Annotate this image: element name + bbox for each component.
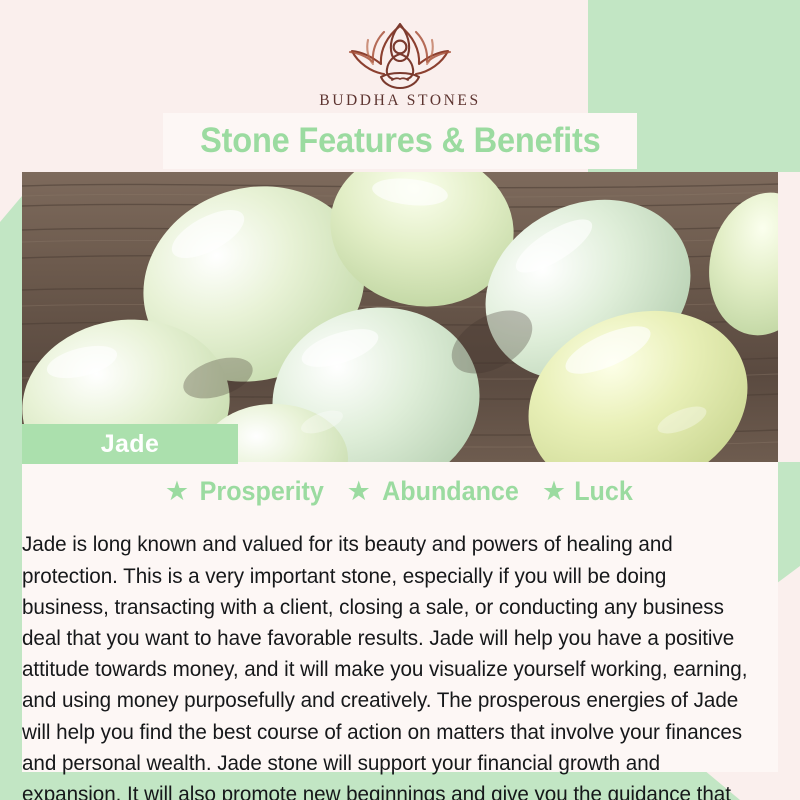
brand-wordmark: BUDDHA STONES: [0, 92, 800, 110]
star-icon: ★: [165, 478, 189, 505]
stone-photo: [22, 172, 778, 462]
star-icon: ★: [347, 478, 371, 505]
stone-name-label: Jade: [101, 430, 160, 459]
star-icon: ★: [542, 478, 566, 505]
benefits-list: ★ Prosperity ★ Abundance ★ Luck: [22, 476, 778, 507]
page-title: Stone Features & Benefits: [200, 121, 601, 161]
benefit-label: Abundance: [382, 476, 519, 507]
benefit-item: ★ Abundance: [347, 476, 524, 507]
accent-shape-left: [0, 196, 22, 800]
benefit-item: ★ Luck: [542, 476, 635, 507]
section-title-banner: Stone Features & Benefits: [163, 113, 637, 169]
stone-info-card: BUDDHA STONES: [0, 0, 800, 800]
benefit-label: Luck: [574, 476, 633, 507]
benefit-item: ★ Prosperity: [165, 476, 329, 507]
stone-name-badge: Jade: [22, 424, 238, 464]
content-panel: ★ Prosperity ★ Abundance ★ Luck Jade is …: [22, 462, 778, 772]
benefit-label: Prosperity: [200, 476, 324, 507]
stone-description: Jade is long known and valued for its be…: [22, 529, 752, 800]
lotus-meditation-icon: [340, 18, 460, 90]
brand-logo: BUDDHA STONES: [0, 18, 800, 118]
